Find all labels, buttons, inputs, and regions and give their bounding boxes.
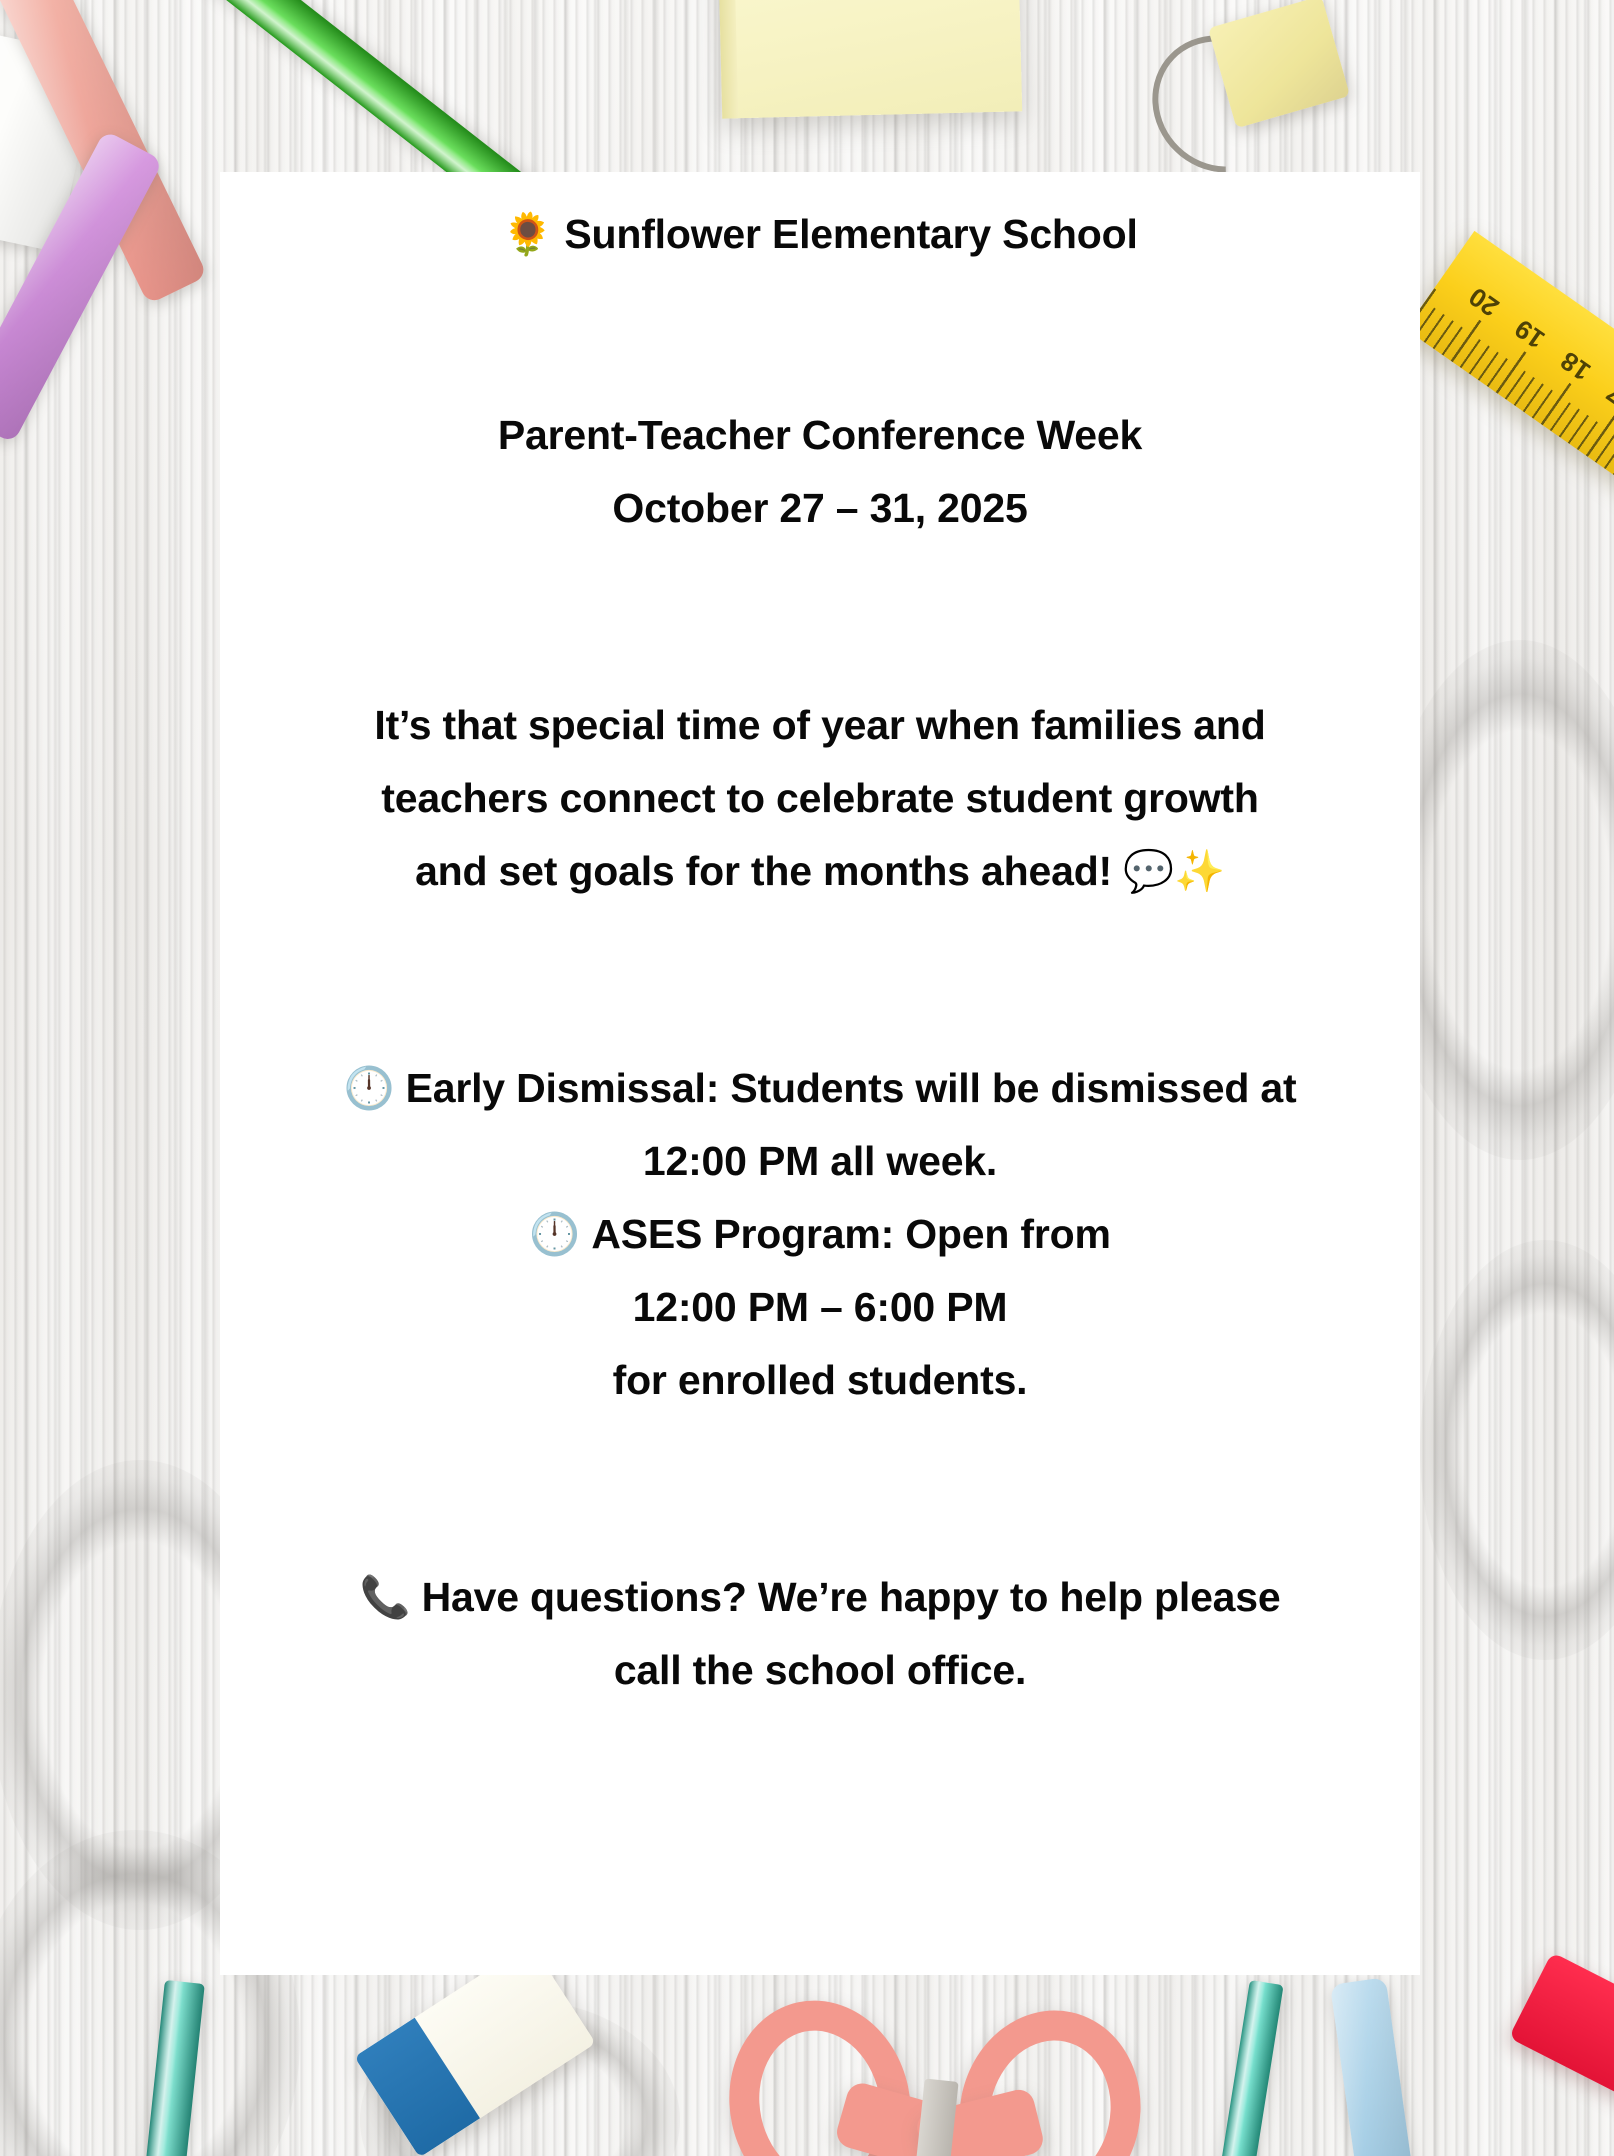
ases-eligibility: for enrolled students. [244,1344,1396,1417]
spacer [244,327,1396,399]
early-dismissal-text: Early Dismissal: Students will be dismis… [406,1065,1297,1111]
ases-hours: 12:00 PM – 6:00 PM [244,1271,1396,1344]
early-dismissal-time: 12:00 PM all week. [244,1125,1396,1198]
intro-line: It’s that special time of year when fami… [244,689,1396,762]
sunflower-icon: 🌻 [502,210,553,258]
event-dates: October 27 – 31, 2025 [244,472,1396,545]
contact-text: Have questions? We’re happy to help plea… [422,1574,1281,1620]
school-name-text: Sunflower Elementary School [564,211,1137,257]
intro-line-text: and set goals for the months ahead! 💬✨ [415,848,1225,894]
flyer-poster: 20 19 18 17 🌻 Sunflower Elementary Schoo… [0,0,1614,2156]
clock-icon: 🕛 [344,1064,395,1112]
sticky-note-pad [718,0,1022,119]
binder-clip [1190,10,1360,150]
spacer [244,980,1396,1052]
event-title: Parent-Teacher Conference Week [244,399,1396,472]
intro-line: and set goals for the months ahead! 💬✨ [244,835,1396,908]
early-dismissal-line: 🕛 Early Dismissal: Students will be dism… [244,1052,1396,1125]
telephone-icon: 📞 [360,1573,411,1621]
clock-icon: 🕛 [529,1210,580,1258]
contact-line: 📞 Have questions? We’re happy to help pl… [244,1561,1396,1634]
spacer [244,545,1396,617]
school-name: 🌻 Sunflower Elementary School [244,214,1396,255]
spacer [244,1489,1396,1561]
ases-text: ASES Program: Open from [591,1211,1110,1257]
ases-line: 🕛 ASES Program: Open from [244,1198,1396,1271]
spacer [244,1417,1396,1489]
scissors [720,1990,1140,2156]
contact-line-two: call the school office. [244,1634,1396,1707]
spacer [244,908,1396,980]
flyer-card: 🌻 Sunflower Elementary School Parent-Tea… [220,172,1420,1975]
intro-line: teachers connect to celebrate student gr… [244,762,1396,835]
spacer [244,255,1396,327]
spacer [244,617,1396,689]
